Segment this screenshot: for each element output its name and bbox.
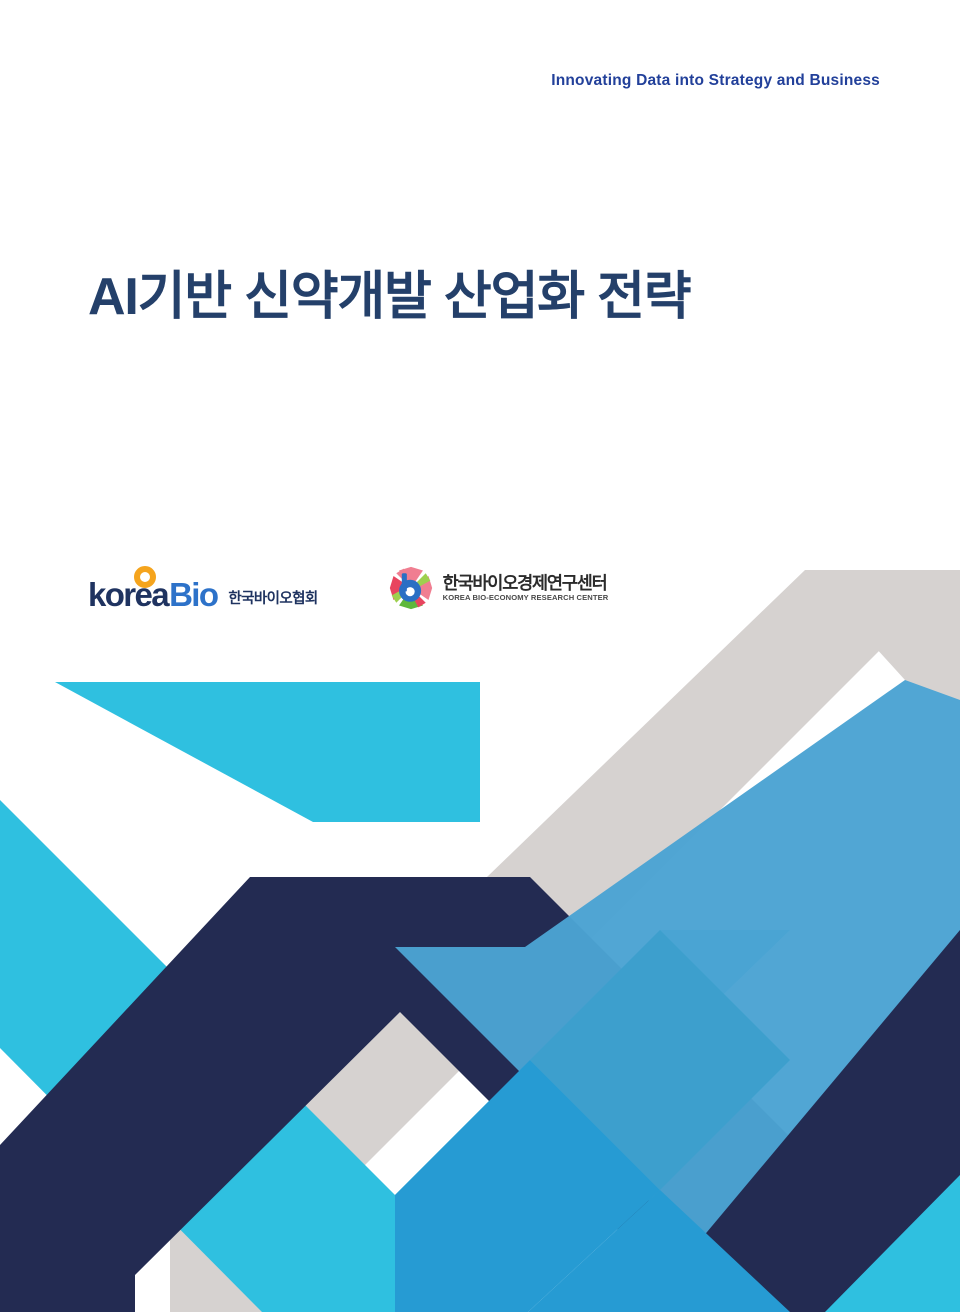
pinwheel-b-icon — [388, 565, 434, 611]
logo-korea-bio: korea Bio 한국바이오협회 — [88, 565, 318, 611]
bio-economy-center-korean-name: 한국바이오경제연구센터 — [443, 574, 609, 592]
logo-bio-economy-center: 한국바이오경제연구센터 KOREA BIO-ECONOMY RESEARCH C… — [388, 565, 609, 611]
korea-bio-wordmark: korea Bio — [88, 578, 217, 611]
korea-bio-korean-name: 한국바이오협회 — [228, 587, 317, 608]
bio-economy-center-text: 한국바이오경제연구센터 KOREA BIO-ECONOMY RESEARCH C… — [443, 574, 609, 602]
korea-bio-word-korea: korea — [88, 578, 168, 611]
orange-ring-icon — [134, 566, 156, 588]
cyan-parallelogram — [55, 682, 480, 822]
logo-row: korea Bio 한국바이오협회 — [88, 565, 608, 611]
cover-page: Innovating Data into Strategy and Busine… — [0, 0, 960, 1312]
bio-economy-center-english-name: KOREA BIO-ECONOMY RESEARCH CENTER — [443, 594, 609, 602]
korea-bio-word-bio: Bio — [169, 578, 217, 611]
chevron-geometric-artwork — [0, 0, 960, 1312]
